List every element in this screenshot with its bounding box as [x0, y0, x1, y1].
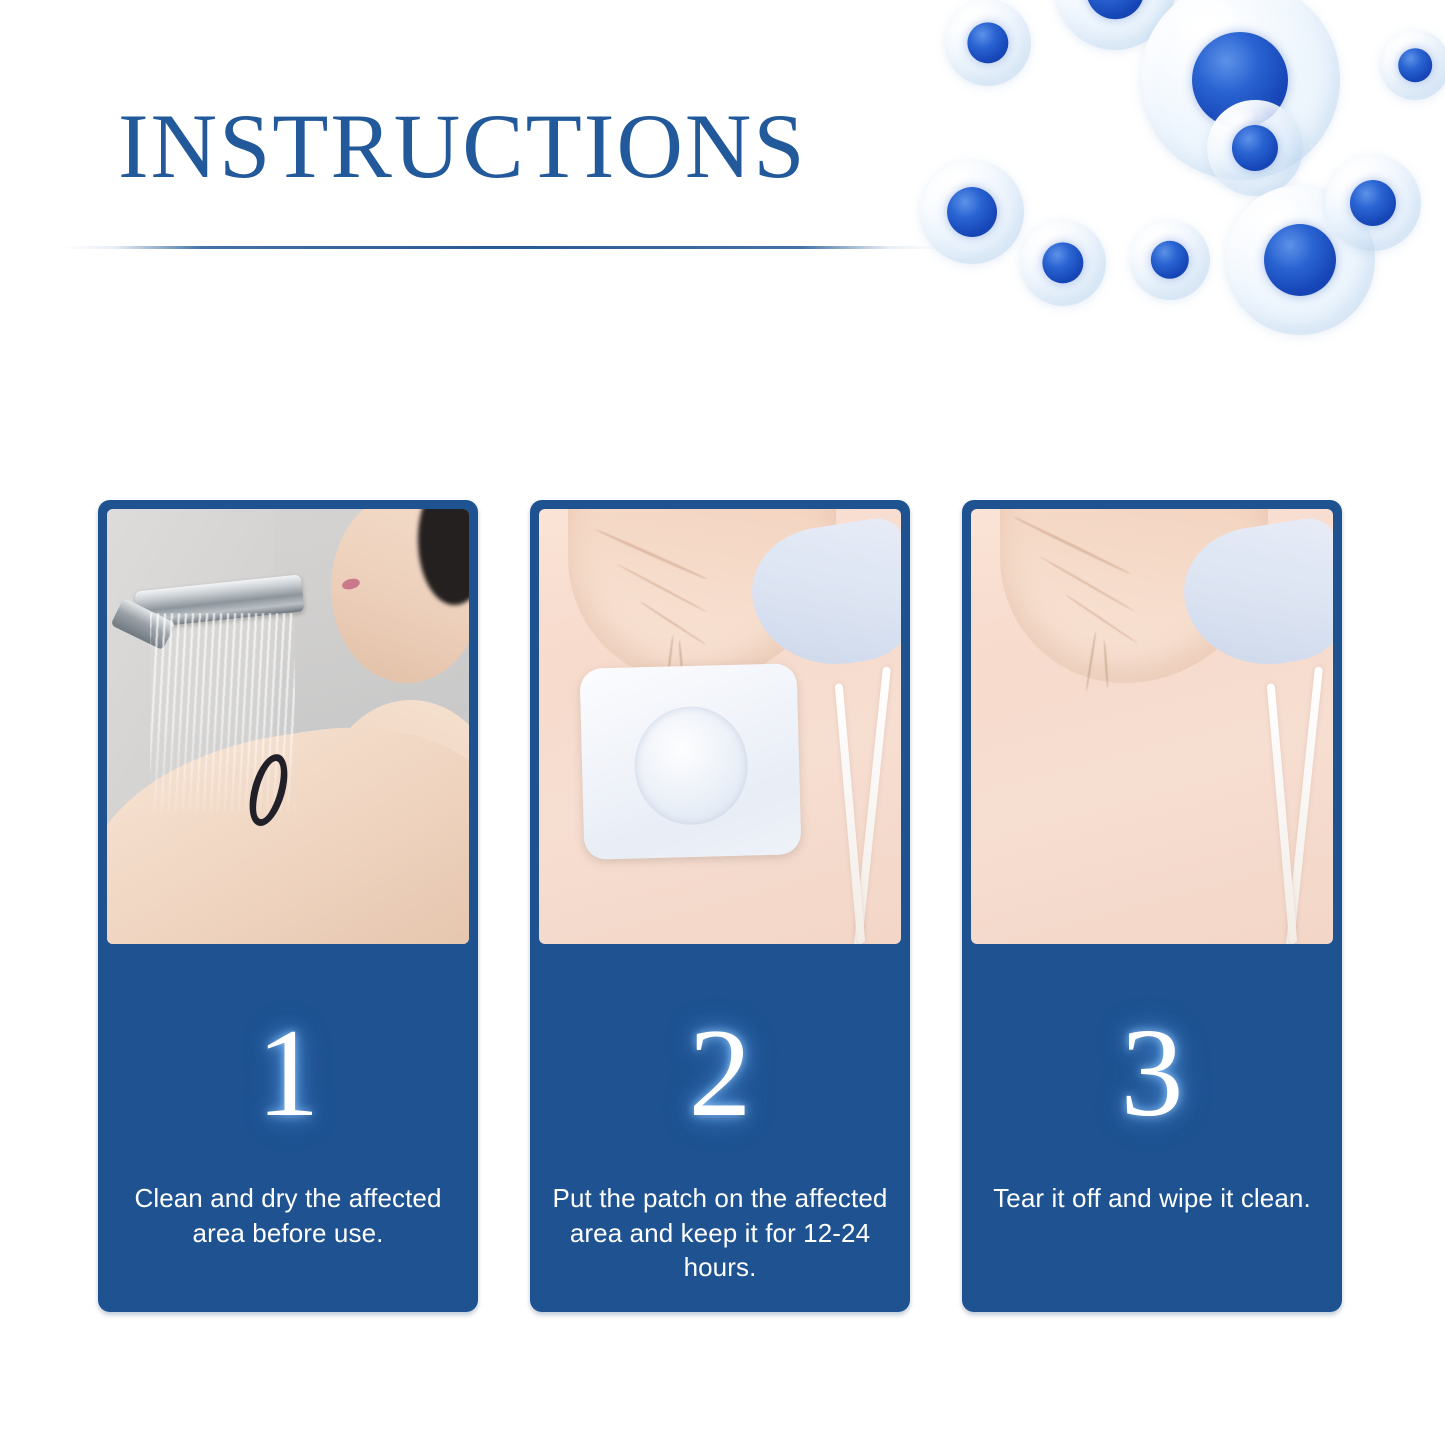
step-body-2: 2 Put the patch on the affected area and…: [530, 953, 910, 1312]
step-number: 2: [689, 1011, 752, 1137]
bubble-cell-icon: [1207, 100, 1303, 196]
bubble-cell-icon: [1140, 0, 1340, 180]
bubble-cells-graphic: [925, 0, 1445, 410]
step-caption: Clean and dry the affected area before u…: [120, 1181, 456, 1250]
heading-block: INSTRUCTIONS: [62, 100, 942, 249]
step-photo-frame-2: [530, 500, 910, 953]
page-title: INSTRUCTIONS: [62, 100, 942, 192]
step-card-2: 2 Put the patch on the affected area and…: [530, 500, 910, 1312]
step-body-1: 1 Clean and dry the affected area before…: [98, 953, 478, 1312]
step-number: 1: [257, 1011, 320, 1137]
bubble-cell-icon: [1325, 155, 1421, 251]
steps-container: 1 Clean and dry the affected area before…: [98, 500, 1342, 1312]
step-caption: Tear it off and wipe it clean.: [993, 1181, 1311, 1216]
step-card-1: 1 Clean and dry the affected area before…: [98, 500, 478, 1312]
title-divider: [62, 246, 942, 249]
patch-removed-photo: [971, 509, 1333, 944]
bubble-cell-icon: [1225, 185, 1375, 335]
product-patch: [580, 663, 802, 860]
step-body-3: 3 Tear it off and wipe it clean.: [962, 953, 1342, 1312]
step-card-3: 3 Tear it off and wipe it clean.: [962, 500, 1342, 1312]
step-number: 3: [1121, 1011, 1184, 1137]
garment-strap: [1267, 683, 1297, 944]
patch-applied-photo: [539, 509, 901, 944]
step-photo-frame-3: [962, 500, 1342, 953]
bubble-cell-icon: [1020, 220, 1106, 306]
shower-photo: [107, 509, 469, 944]
step-photo-frame-1: [98, 500, 478, 953]
garment-strap: [835, 683, 865, 944]
bubble-cell-icon: [1055, 0, 1175, 50]
bubble-cell-icon: [1130, 220, 1210, 300]
bubble-cell-icon: [1380, 30, 1445, 100]
step-caption: Put the patch on the affected area and k…: [552, 1181, 888, 1285]
instructions-page: INSTRUCTIONS: [0, 0, 1445, 1445]
bubble-cell-icon: [945, 0, 1031, 86]
